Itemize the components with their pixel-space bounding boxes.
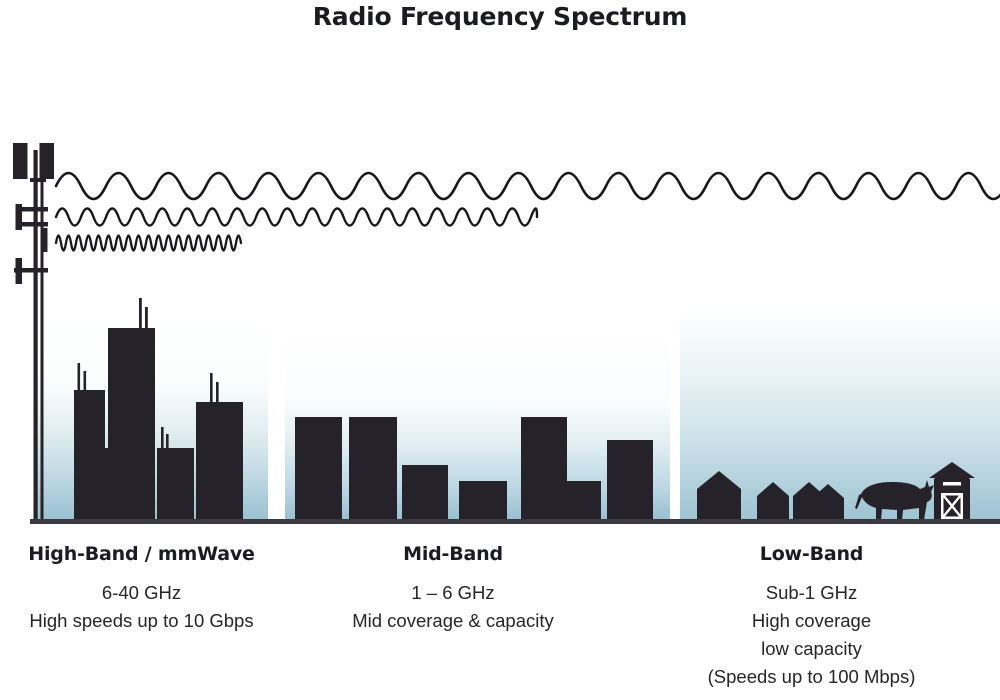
band-title-mid-band: Mid-Band	[283, 543, 623, 565]
band-detail-line: Sub-1 GHz	[623, 579, 1000, 607]
wave-high-frequency	[56, 236, 241, 251]
building-hb-4	[157, 448, 194, 523]
building-mb-2	[349, 417, 397, 523]
band-detail-line: 6-40 GHz	[0, 579, 283, 607]
band-title-low-band: Low-Band	[623, 543, 1000, 565]
band-captions: High-Band / mmWave 6-40 GHz High speeds …	[0, 543, 1000, 700]
band-detail-line: Mid coverage & capacity	[283, 607, 623, 635]
spire-hb-1b	[84, 371, 87, 391]
spire-hb-3a	[139, 298, 142, 329]
band-detail-line: High speeds up to 10 Gbps	[0, 607, 283, 635]
tower-antenna-panel-1	[13, 143, 28, 179]
tower-mast-left	[34, 150, 38, 523]
tower-antenna-panel-3	[16, 204, 23, 230]
tower-mast-right	[41, 150, 44, 523]
building-mb-7	[607, 440, 653, 523]
band-caption-high-band: High-Band / mmWave 6-40 GHz High speeds …	[0, 543, 283, 635]
spire-hb-5a	[210, 373, 213, 403]
band-detail-line: (Speeds up to 100 Mbps)	[623, 663, 1000, 691]
building-mb-6	[567, 481, 601, 523]
band-detail-line: low capacity	[623, 635, 1000, 663]
ground-baseline	[30, 519, 1000, 524]
building-mb-1	[295, 417, 342, 523]
tower-antenna-panel-2	[40, 143, 55, 179]
spire-hb-3b	[145, 307, 148, 329]
spire-hb-1a	[78, 363, 81, 391]
wave-low-frequency	[56, 173, 1000, 199]
band-title-high-band: High-Band / mmWave	[0, 543, 283, 565]
building-mb-5	[521, 417, 567, 523]
band-detail-high-band: 6-40 GHz High speeds up to 10 Gbps	[0, 579, 283, 635]
building-hb-3	[108, 328, 155, 523]
tower-antenna-panel-5	[16, 258, 23, 284]
band-caption-mid-band: Mid-Band 1 – 6 GHz Mid coverage & capaci…	[283, 543, 623, 635]
band-detail-low-band: Sub-1 GHz High coverage low capacity (Sp…	[623, 579, 1000, 691]
band-detail-line: High coverage	[623, 607, 1000, 635]
building-hb-5	[196, 402, 243, 523]
building-mb-3	[402, 465, 448, 523]
building-mb-4	[459, 481, 507, 523]
spire-hb-4b	[166, 434, 169, 449]
tower-antenna-panel-4	[41, 228, 48, 252]
band-detail-line: 1 – 6 GHz	[283, 579, 623, 607]
infographic-canvas: Radio Frequency Spectrum	[0, 0, 1000, 700]
building-hb-1	[74, 390, 105, 523]
spire-hb-5b	[216, 382, 219, 403]
tower-crossbar-1	[20, 207, 48, 212]
spire-hb-4a	[161, 427, 164, 449]
tower-crossbar-2	[20, 222, 48, 227]
wave-mid-frequency	[56, 209, 537, 226]
barn-loft-window	[943, 482, 961, 486]
band-caption-low-band: Low-Band Sub-1 GHz High coverage low cap…	[623, 543, 1000, 691]
radio-waves	[56, 173, 1000, 251]
band-detail-mid-band: 1 – 6 GHz Mid coverage & capacity	[283, 579, 623, 635]
